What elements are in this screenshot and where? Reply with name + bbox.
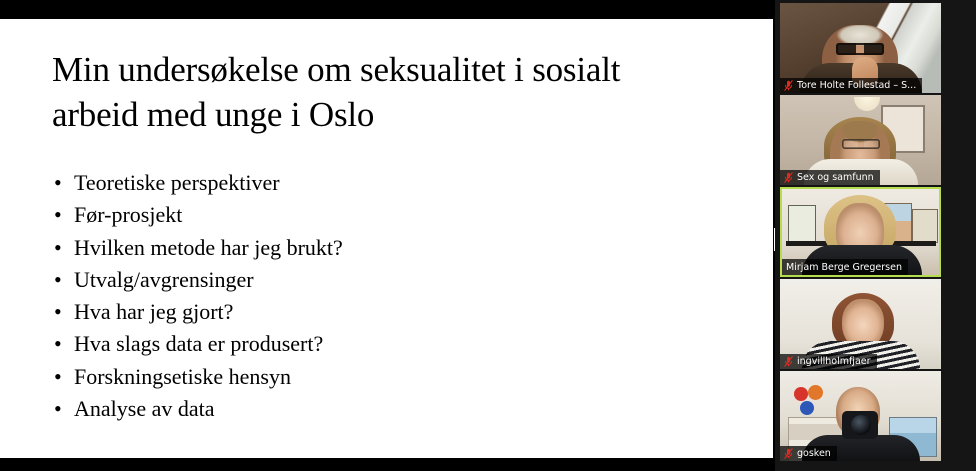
presentation-slide: Min undersøkelse om seksualitet i sosial… xyxy=(0,19,773,458)
participant-namebar: Mirjam Berge Gregersen xyxy=(782,259,908,275)
participant-name: Mirjam Berge Gregersen xyxy=(786,260,902,275)
participant-namebar: gosken xyxy=(780,446,837,461)
list-item: •Teoretiske perspektiver xyxy=(52,167,712,199)
participant-filmstrip: Tore Holte Follestad – S... xyxy=(775,0,976,471)
participant-tile[interactable]: Tore Holte Follestad – S... xyxy=(780,3,941,93)
participant-name: gosken xyxy=(797,446,831,461)
bullet-icon: • xyxy=(54,264,62,296)
bullet-text: Forskningsetiske hensyn xyxy=(74,364,291,389)
meeting-window: Min undersøkelse om seksualitet i sosial… xyxy=(0,0,976,471)
list-item: •Hva har jeg gjort? xyxy=(52,296,712,328)
bullet-text: Utvalg/avgrensinger xyxy=(74,267,254,292)
video-scene-detail xyxy=(794,385,834,415)
bullet-text: Analyse av data xyxy=(74,396,215,421)
microphone-muted-icon xyxy=(784,172,793,183)
video-scene-detail xyxy=(842,139,880,149)
participant-tile[interactable]: Sex og samfunn xyxy=(780,95,941,185)
video-scene-detail xyxy=(842,411,878,439)
bullet-icon: • xyxy=(54,361,62,393)
bullet-icon: • xyxy=(54,296,62,328)
list-item: •Før-prosjekt xyxy=(52,199,712,231)
video-scene-detail xyxy=(836,43,884,55)
bullet-text: Teoretiske perspektiver xyxy=(74,170,280,195)
microphone-muted-icon xyxy=(784,80,793,91)
participant-namebar: Tore Holte Follestad – S... xyxy=(780,78,922,93)
participant-tile[interactable]: gosken xyxy=(780,371,941,461)
slide-title: Min undersøkelse om seksualitet i sosial… xyxy=(52,47,712,137)
participant-tile[interactable]: ingvillholmfjaer xyxy=(780,279,941,369)
participant-namebar: Sex og samfunn xyxy=(780,170,880,185)
bullet-text: Før-prosjekt xyxy=(74,202,182,227)
participant-tile-active-speaker[interactable]: Mirjam Berge Gregersen xyxy=(780,187,941,277)
bullet-text: Hva slags data er produsert? xyxy=(74,331,323,356)
bullet-text: Hvilken metode har jeg brukt? xyxy=(74,235,343,260)
bullet-icon: • xyxy=(54,393,62,425)
microphone-muted-icon xyxy=(784,448,793,459)
drag-handle-icon[interactable] xyxy=(766,228,775,251)
list-item: •Hva slags data er produsert? xyxy=(52,328,712,360)
participant-name: Tore Holte Follestad – S... xyxy=(797,78,916,93)
microphone-muted-icon xyxy=(784,356,793,367)
bullet-text: Hva har jeg gjort? xyxy=(74,299,233,324)
bullet-icon: • xyxy=(54,167,62,199)
video-scene-detail xyxy=(788,205,816,243)
participant-name: ingvillholmfjaer xyxy=(797,354,871,369)
video-scene-detail xyxy=(912,209,938,243)
shared-screen-stage: Min undersøkelse om seksualitet i sosial… xyxy=(0,0,775,471)
bullet-icon: • xyxy=(54,199,62,231)
participant-namebar: ingvillholmfjaer xyxy=(780,354,877,369)
drag-handle-line xyxy=(766,228,768,251)
list-item: •Utvalg/avgrensinger xyxy=(52,264,712,296)
list-item: •Hvilken metode har jeg brukt? xyxy=(52,232,712,264)
list-item: •Analyse av data xyxy=(52,393,712,425)
slide-bullet-list: •Teoretiske perspektiver •Før-prosjekt •… xyxy=(52,167,712,425)
participant-name: Sex og samfunn xyxy=(797,170,874,185)
bullet-icon: • xyxy=(54,232,62,264)
list-item: •Forskningsetiske hensyn xyxy=(52,361,712,393)
bullet-icon: • xyxy=(54,328,62,360)
